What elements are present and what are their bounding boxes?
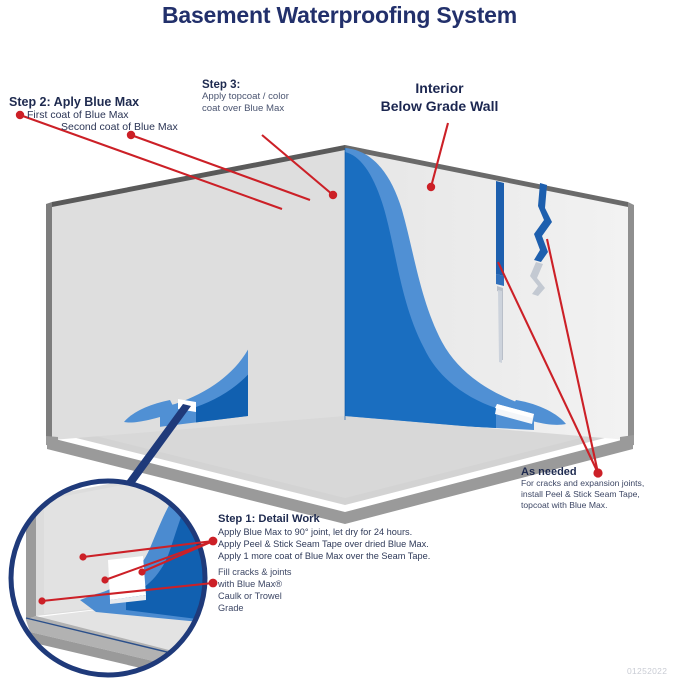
leader-dot-step1-c-end [138,568,145,575]
asneeded-line1: For cracks and expansion joints, [521,478,679,489]
date-code: 01252022 [627,666,667,676]
step1-line3: Apply 1 more coat of Blue Max over the S… [218,550,468,562]
label-interior-below-grade-wall: Interior Below Grade Wall [352,80,527,115]
leader-dot-interior-wall [427,183,435,191]
seam-tape-vertical [496,181,504,276]
step2-line2: Second coat of Blue Max [61,121,219,133]
interior-line1: Interior [352,80,527,98]
asneeded-line3: topcoat with Blue Max. [521,500,679,511]
asneeded-line2: install Peel & Stick Seam Tape, [521,489,679,500]
label-step1-detail-work: Step 1: Detail Work Apply Blue Max to 90… [218,513,468,562]
leader-dot-step1-b-end [101,576,108,583]
right-wall-side-thickness [628,202,634,443]
step3-heading: Step 3: [202,79,332,91]
step1-line1: Apply Blue Max to 90° joint, let dry for… [218,526,468,538]
asneeded-heading: As needed [521,466,679,478]
step1-line2: Apply Peel & Stick Seam Tape over dried … [218,538,468,550]
fill-line2: with Blue Max® [218,578,338,590]
leader-dot-step1 [209,537,218,546]
step3-line1: Apply topcoat / color [202,91,332,103]
seam-tape-vertical-lower [496,274,504,286]
label-step3: Step 3: Apply topcoat / color coat over … [202,79,332,115]
leader-dot-fill-cracks-end [38,597,45,604]
step2-line1: First coat of Blue Max [27,109,219,121]
step3-line2: coat over Blue Max [202,103,332,115]
left-wall-side-thickness [46,202,52,443]
detail-magnifier [11,470,230,682]
left-wall-base-strip [46,436,58,446]
label-as-needed: As needed For cracks and expansion joint… [521,466,679,512]
step1-heading: Step 1: Detail Work [218,513,468,525]
diagram-canvas: Basement Waterproofing System [0,0,679,687]
interior-line2: Below Grade Wall [352,98,527,116]
step2-heading: Step 2: Aply Blue Max [9,95,219,109]
label-step2: Step 2: Aply Blue Max First coat of Blue… [9,95,219,133]
right-wall-base-strip [620,435,634,447]
label-fill-cracks-joints: Fill cracks & joints with Blue Max® Caul… [218,566,338,615]
fill-line1: Fill cracks & joints [218,566,338,578]
fill-line4: Grade [218,602,338,614]
leader-dot-fill-cracks [209,579,218,588]
leader-dot-step3-topcoat [329,191,337,199]
fill-line3: Caulk or Trowel [218,590,338,602]
leader-dot-step1-a-end [79,553,86,560]
